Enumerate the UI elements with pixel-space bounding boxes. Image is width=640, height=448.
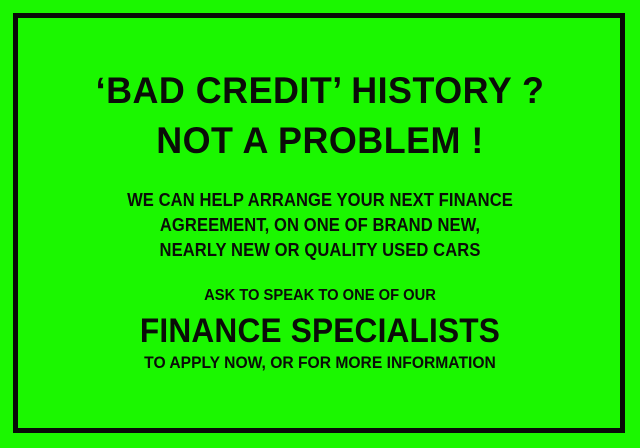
body-text-line-1: WE CAN HELP ARRANGE YOUR NEXT FINANCE	[26, 189, 615, 211]
body-text-line-3: NEARLY NEW OR QUALITY USED CARS	[26, 239, 615, 261]
headline-primary: ‘BAD CREDIT’ HISTORY ?	[10, 71, 631, 111]
call-to-action-footer: TO APPLY NOW, OR FOR MORE INFORMATION	[26, 352, 615, 373]
poster-content: ‘BAD CREDIT’ HISTORY ? NOT A PROBLEM ! W…	[0, 0, 640, 448]
headline-secondary: NOT A PROBLEM !	[10, 121, 631, 161]
call-to-action-intro: ASK TO SPEAK TO ONE OF OUR	[26, 286, 615, 306]
call-to-action-emphasis: FINANCE SPECIALISTS	[22, 312, 617, 350]
body-text-line-2: AGREEMENT, ON ONE OF BRAND NEW,	[26, 214, 615, 236]
advertisement-poster: ‘BAD CREDIT’ HISTORY ? NOT A PROBLEM ! W…	[0, 0, 640, 448]
